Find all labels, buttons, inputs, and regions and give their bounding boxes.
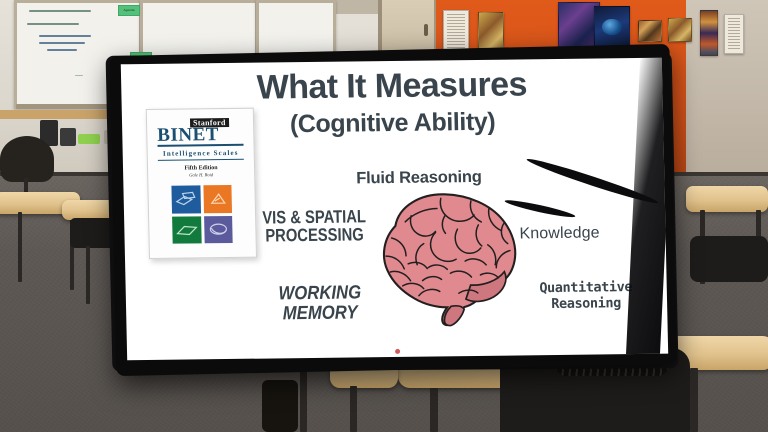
label-knowledge: Knowledge: [519, 224, 599, 243]
student-desk-right: [686, 186, 768, 212]
teacher-chair: [0, 136, 54, 182]
poster-photo-strip: [700, 10, 718, 56]
tile-green-icon: [172, 216, 201, 244]
book-rule-top: [158, 144, 244, 147]
label-working-line-2: MEMORY: [264, 303, 377, 324]
book-author: Gale H. Roid: [158, 172, 244, 178]
book-series: Intelligence Scales: [158, 149, 244, 158]
label-working-memory: WORKING MEMORY: [263, 283, 376, 324]
green-tray: [78, 134, 100, 144]
sticky-note-agenda-label: Agenda: [119, 6, 139, 15]
poster-text-article-2: [724, 14, 744, 54]
projected-slide: What It Measures (Cognitive Ability) Sta…: [110, 44, 677, 376]
tile-blue-icon: [171, 185, 200, 213]
slide-canvas: What It Measures (Cognitive Ability) Sta…: [121, 58, 668, 361]
label-working-line-1: WORKING: [263, 283, 376, 304]
poster-small-collage-2: [668, 18, 692, 42]
slide-title: What It Measures: [121, 66, 663, 107]
red-marker-dot: [395, 349, 400, 354]
label-vis-line-2: PROCESSING: [260, 226, 369, 246]
book-edition: Fifth Edition: [158, 165, 244, 172]
tile-purple-icon: [204, 215, 233, 243]
student-chair-right: [690, 236, 768, 282]
screen-edge-shadow: [626, 58, 669, 361]
book-rule-bottom: [158, 159, 244, 161]
supply-box-2: [60, 128, 76, 146]
poster-small-collage: [638, 20, 662, 42]
tile-orange-icon: [203, 185, 232, 213]
label-visual-spatial-processing: VIS & SPATIAL PROCESSING: [260, 207, 369, 245]
brain-illustration: [360, 184, 526, 336]
stanford-binet-book-cover: Stanford BINET Intelligence Scales Fifth…: [146, 108, 257, 259]
desk-basket: [262, 380, 298, 432]
sticky-note-agenda: Agenda: [118, 5, 140, 16]
door-knob-icon: [424, 24, 428, 36]
counter-shelf: [0, 110, 120, 119]
book-title: BINET: [157, 125, 243, 145]
screenshot-root: Agenda Objective: [0, 0, 768, 432]
book-tile-grid: [171, 185, 232, 244]
